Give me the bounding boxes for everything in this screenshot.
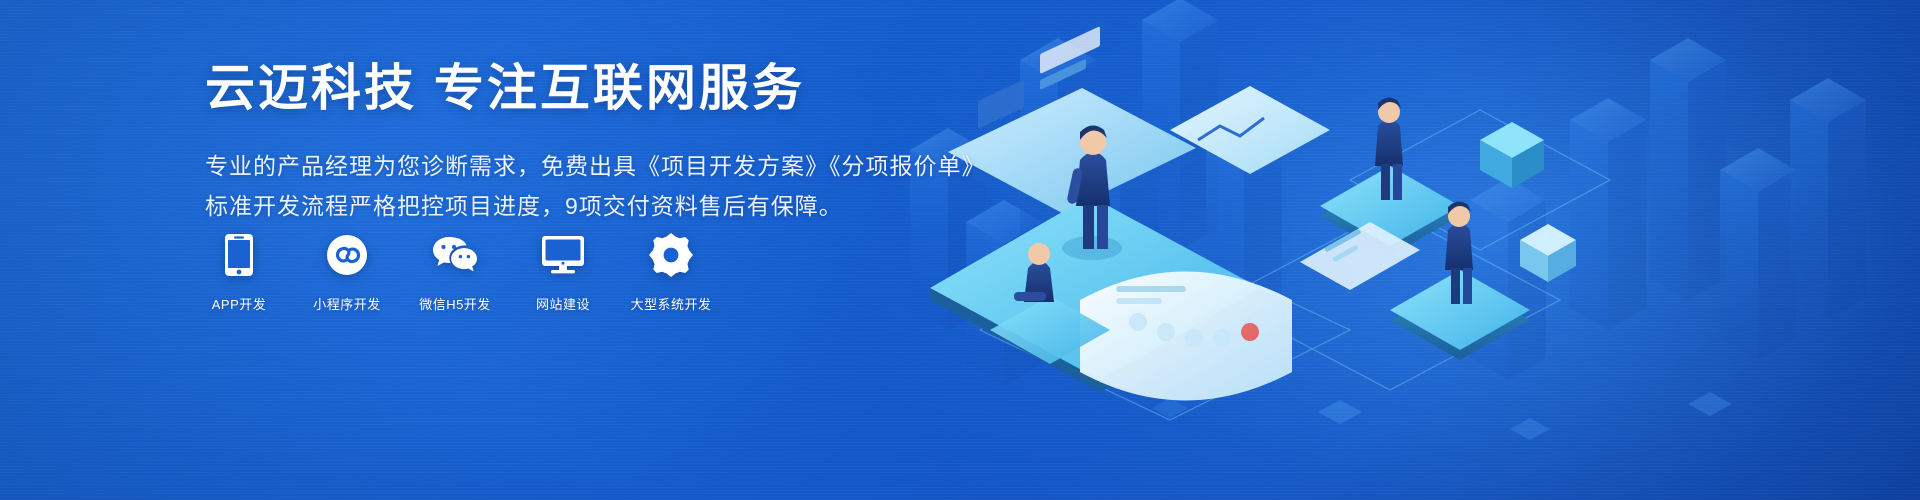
gear-icon: [648, 232, 694, 278]
data-sheet: [1080, 272, 1292, 401]
banner-subtitle: 专业的产品经理为您诊断需求，免费出具《项目开发方案》《分项报价单》 标准开发流程…: [205, 146, 905, 227]
page-title: 云迈科技 专注互联网服务: [205, 60, 905, 118]
monitor-icon: [540, 232, 586, 278]
service-item-app[interactable]: APP开发: [203, 232, 275, 313]
subtitle-line-2: 标准开发流程严格把控项目进度，9项交付资料售后有保障。: [205, 186, 905, 226]
hero-banner: 云迈科技 专注互联网服务 专业的产品经理为您诊断需求，免费出具《项目开发方案》《…: [0, 0, 1920, 500]
service-label: 微信H5开发: [419, 294, 491, 313]
isometric-illustration: [920, 0, 1920, 500]
service-item-miniprogram[interactable]: 小程序开发: [311, 232, 383, 313]
service-item-website[interactable]: 网站建设: [527, 232, 599, 313]
mobile-phone-icon: [216, 232, 262, 278]
floating-cubes: [1480, 122, 1576, 282]
service-label: 网站建设: [536, 294, 590, 313]
subtitle-line-1: 专业的产品经理为您诊断需求，免费出具《项目开发方案》《分项报价单》: [205, 146, 905, 186]
banner-copy: 云迈科技 专注互联网服务 专业的产品经理为您诊断需求，免费出具《项目开发方案》《…: [205, 60, 905, 226]
service-label: 小程序开发: [313, 294, 381, 313]
service-list: APP开发 小程序开发: [203, 232, 707, 313]
service-label: APP开发: [212, 294, 267, 313]
service-label: 大型系统开发: [631, 294, 712, 313]
service-item-large-system[interactable]: 大型系统开发: [635, 232, 707, 313]
wechat-icon: [432, 232, 478, 278]
service-item-wechat-h5[interactable]: 微信H5开发: [419, 232, 491, 313]
mini-program-icon: [324, 232, 370, 278]
